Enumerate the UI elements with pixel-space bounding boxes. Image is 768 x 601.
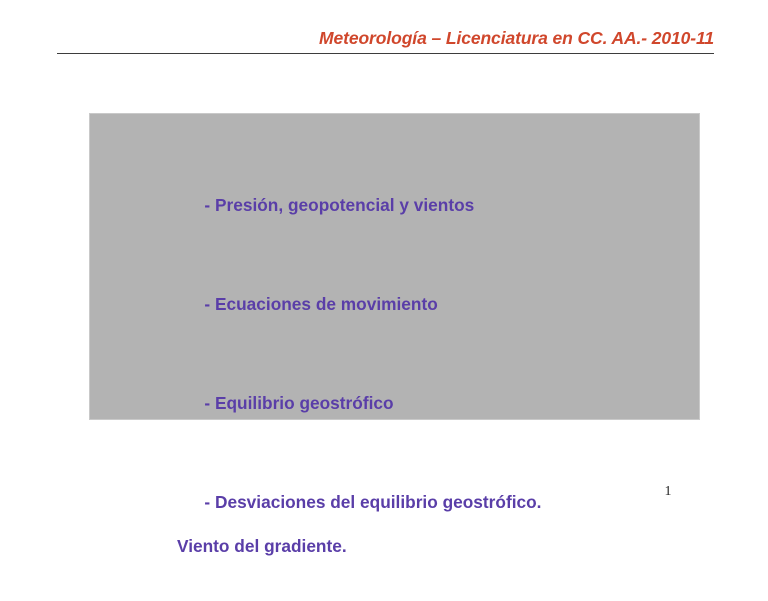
list-item: - Desviaciones del equilibrio geostrófic…: [166, 469, 686, 601]
header-divider: [57, 53, 714, 54]
content-panel: - Presión, geopotencial y vientos - Ecua…: [89, 113, 700, 420]
bullet-text: - Equilibrio geostrófico: [204, 393, 393, 413]
bullet-text: - Ecuaciones de movimiento: [204, 294, 437, 314]
list-item: - Presión, geopotencial y vientos: [166, 172, 686, 238]
list-item: - Equilibrio geostrófico: [166, 370, 686, 436]
bullet-list: - Presión, geopotencial y vientos - Ecua…: [166, 172, 686, 601]
bullet-text-continuation: Viento del gradiente.: [166, 535, 686, 557]
page-number: 1: [658, 484, 678, 500]
bullet-text: - Desviaciones del equilibrio geostrófic…: [204, 492, 541, 512]
page-title: Meteorología – Licenciatura en CC. AA.- …: [57, 28, 714, 49]
slide-canvas: Meteorología – Licenciatura en CC. AA.- …: [0, 0, 768, 543]
list-item: - Ecuaciones de movimiento: [166, 271, 686, 337]
bullet-text: - Presión, geopotencial y vientos: [204, 195, 474, 215]
